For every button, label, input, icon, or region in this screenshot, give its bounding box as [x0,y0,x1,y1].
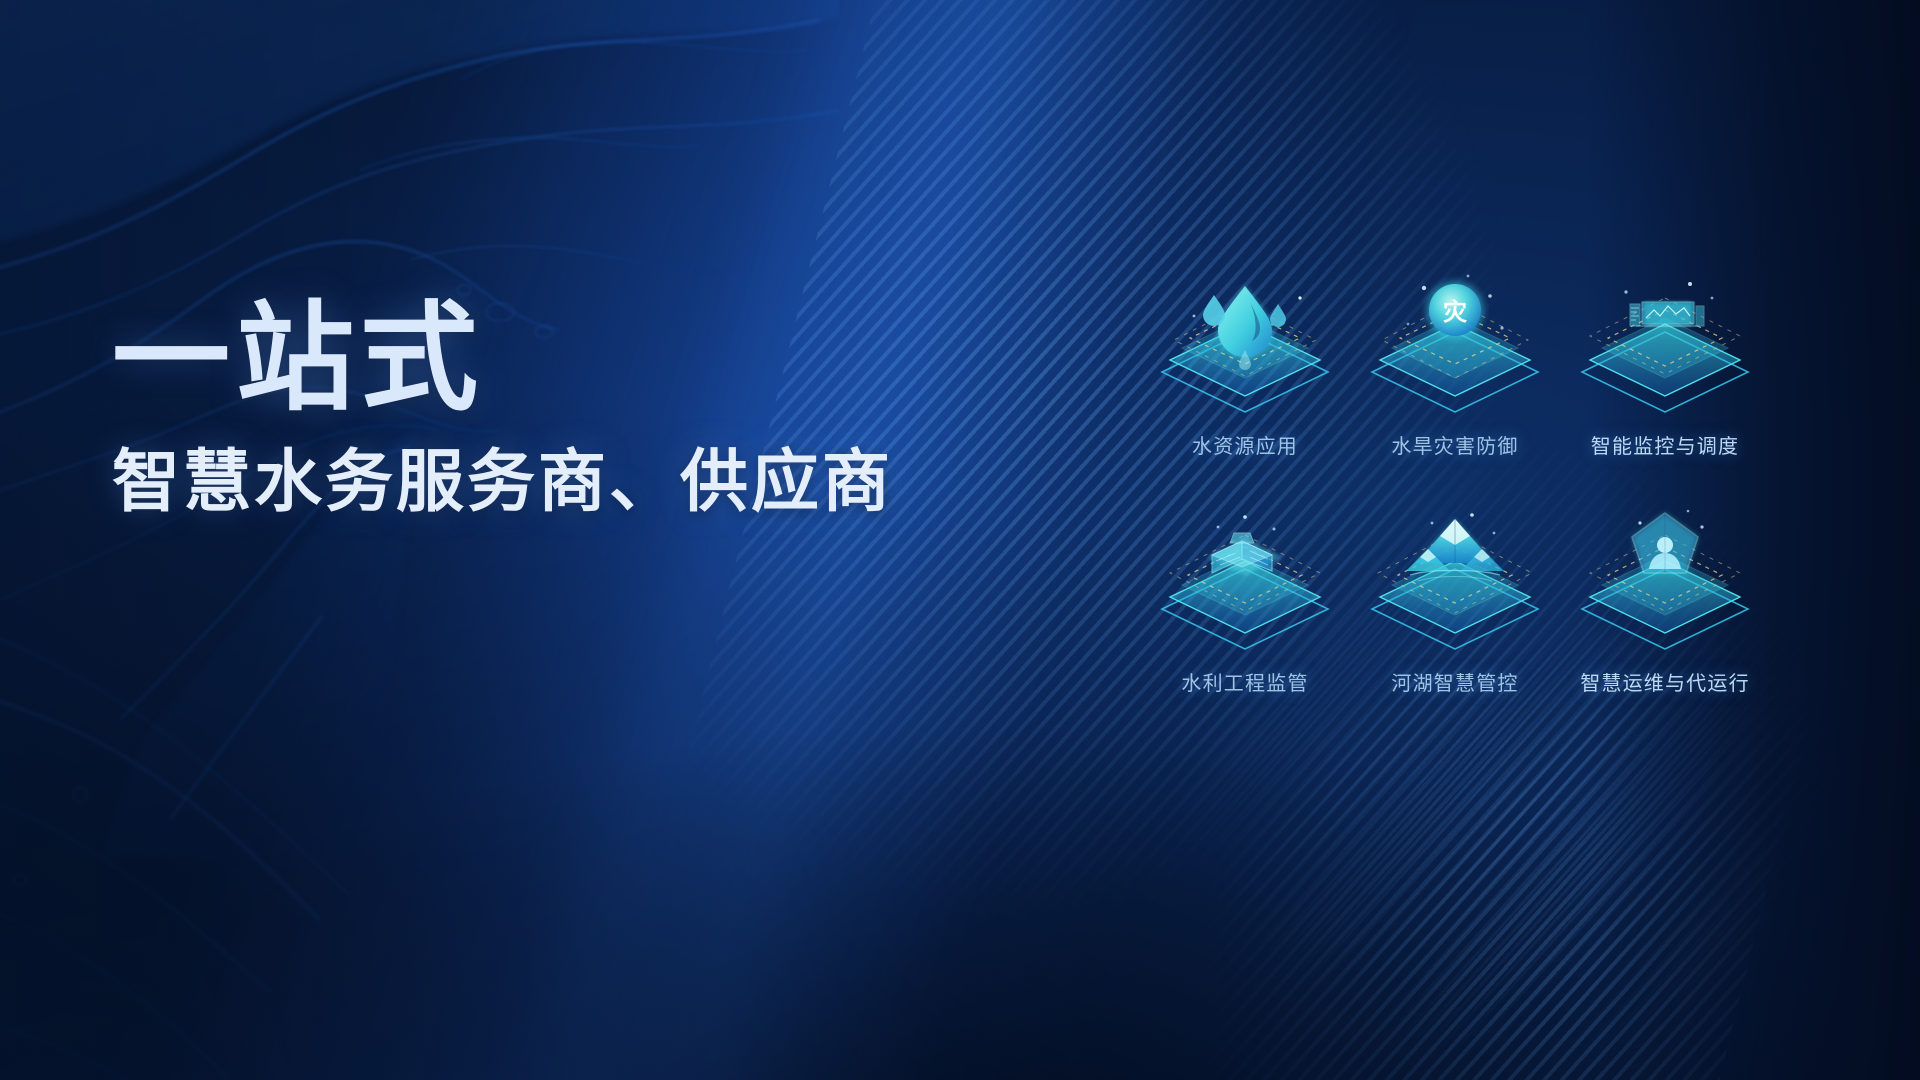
capability-label: 智能监控与调度 [1591,430,1739,459]
shield-operator-icon [1570,505,1760,655]
capability-label: 水资源应用 [1192,430,1298,459]
dam-structure-icon [1150,505,1340,655]
capability-grid: 水资源应用 [1140,268,1770,696]
capability-label: 智慧运维与代运行 [1580,667,1750,696]
hero-slide: 一站式 智慧水务服务商、供应商 [0,0,1920,1080]
monitor-dashboard-icon [1570,268,1760,418]
page-title: 一站式 [112,300,1052,418]
capability-item-smart-operations[interactable]: 智慧运维与代运行 [1560,505,1770,696]
capability-label: 水利工程监管 [1181,667,1308,696]
capability-label: 河湖智慧管控 [1391,667,1518,696]
disaster-sphere-icon: 灾 [1360,268,1550,418]
capability-item-water-resource[interactable]: 水资源应用 [1140,268,1350,459]
capability-item-disaster-defense[interactable]: 灾 水旱灾害防御 [1350,268,1560,459]
page-subtitle: 智慧水务服务商、供应商 [112,444,1052,520]
water-drop-icon [1150,268,1340,418]
capability-item-river-lake-control[interactable]: 河湖智慧管控 [1350,505,1560,696]
mountain-river-icon [1360,505,1550,655]
disaster-badge-char: 灾 [1443,298,1467,326]
capability-item-water-engineering[interactable]: 水利工程监管 [1140,505,1350,696]
hero-text-block: 一站式 智慧水务服务商、供应商 [112,300,1052,520]
capability-label: 水旱灾害防御 [1391,430,1518,459]
capability-item-intelligent-monitoring[interactable]: 智能监控与调度 [1560,268,1770,459]
